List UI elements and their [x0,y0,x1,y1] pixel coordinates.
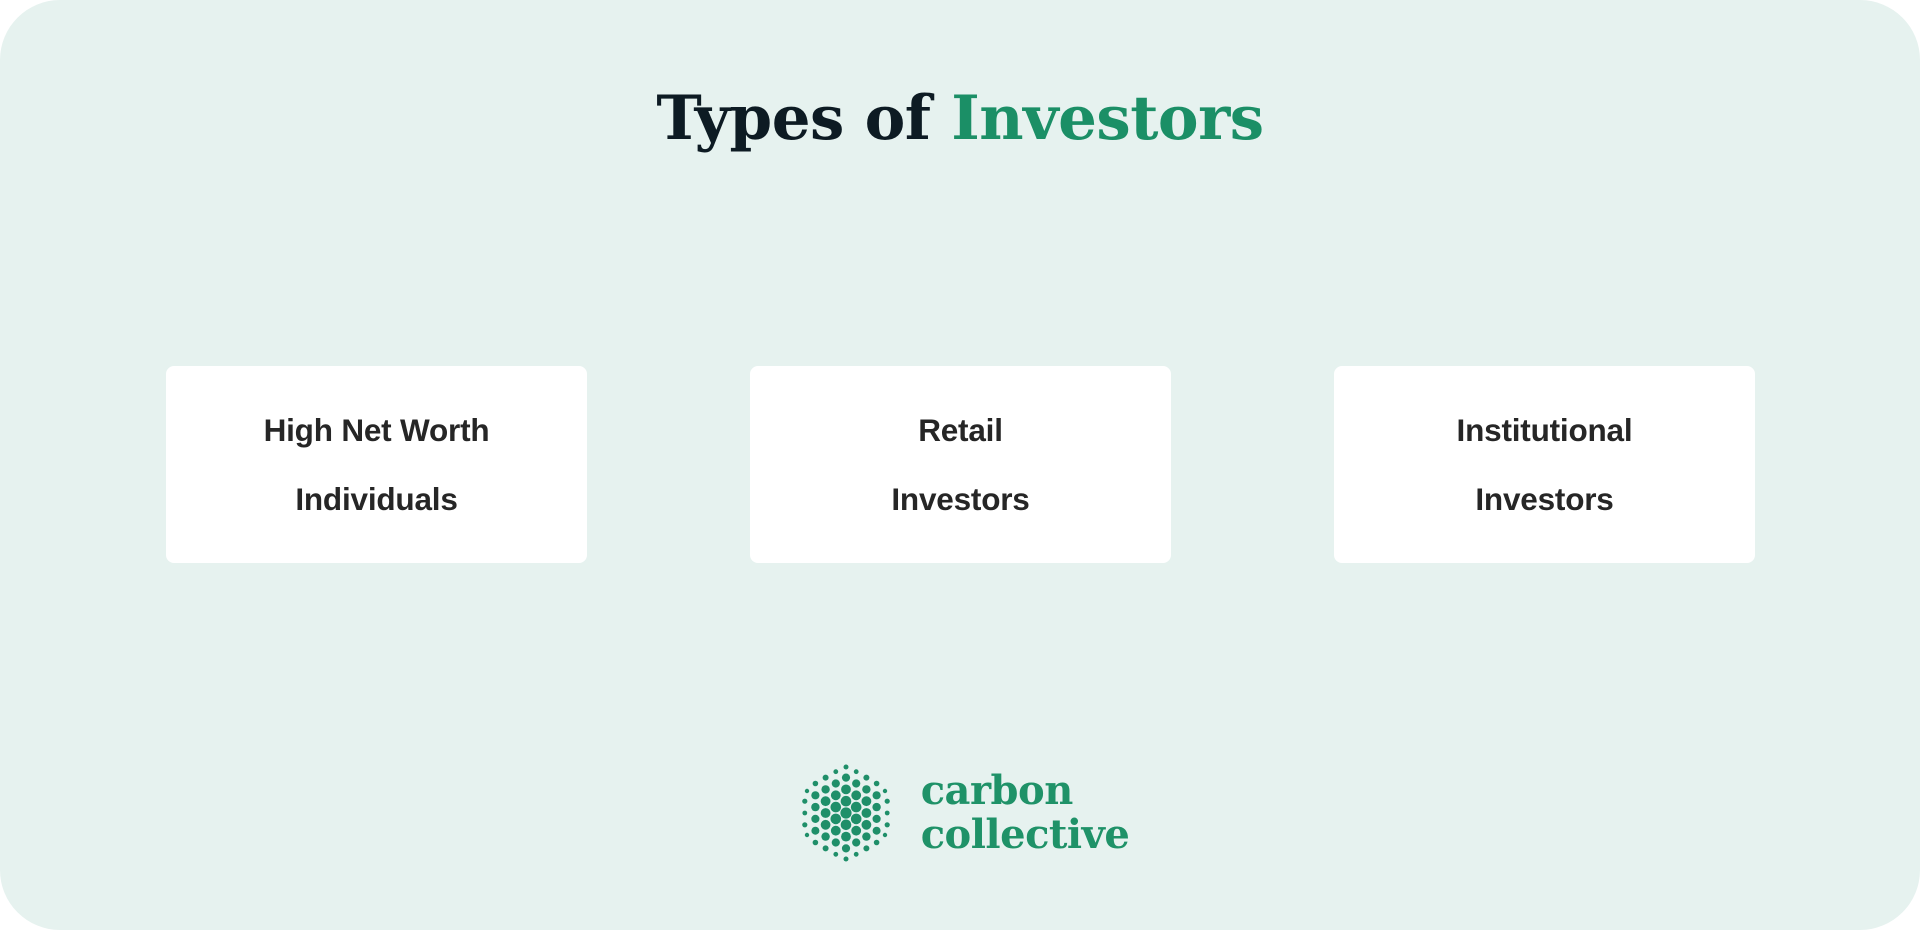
investor-type-cards: High Net Worth Individuals Retail Invest… [166,366,1755,563]
card-high-net-worth-individuals[interactable]: High Net Worth Individuals [166,366,587,563]
carbon-collective-dot-circle-icon [791,758,901,868]
card-institutional-investors[interactable]: Institutional Investors [1334,366,1755,563]
title-lead-text: Types of [656,83,951,154]
card-label: High Net Worth Individuals [264,396,490,534]
card-label: Retail Investors [891,396,1029,534]
page-title: Types of Investors [0,88,1920,149]
infographic-container: Types of Investors High Net Worth Indivi… [0,0,1920,930]
card-retail-investors[interactable]: Retail Investors [750,366,1171,563]
brand-logo: carbon collective [0,758,1920,868]
logo-wordmark-line-2: collective [921,813,1130,857]
title-accent-text: Investors [951,83,1263,154]
card-label: Institutional Investors [1457,396,1633,534]
logo-wordmark-line-1: carbon [921,769,1130,813]
logo-wordmark: carbon collective [921,769,1130,857]
title-text: Types of Investors [656,83,1263,154]
